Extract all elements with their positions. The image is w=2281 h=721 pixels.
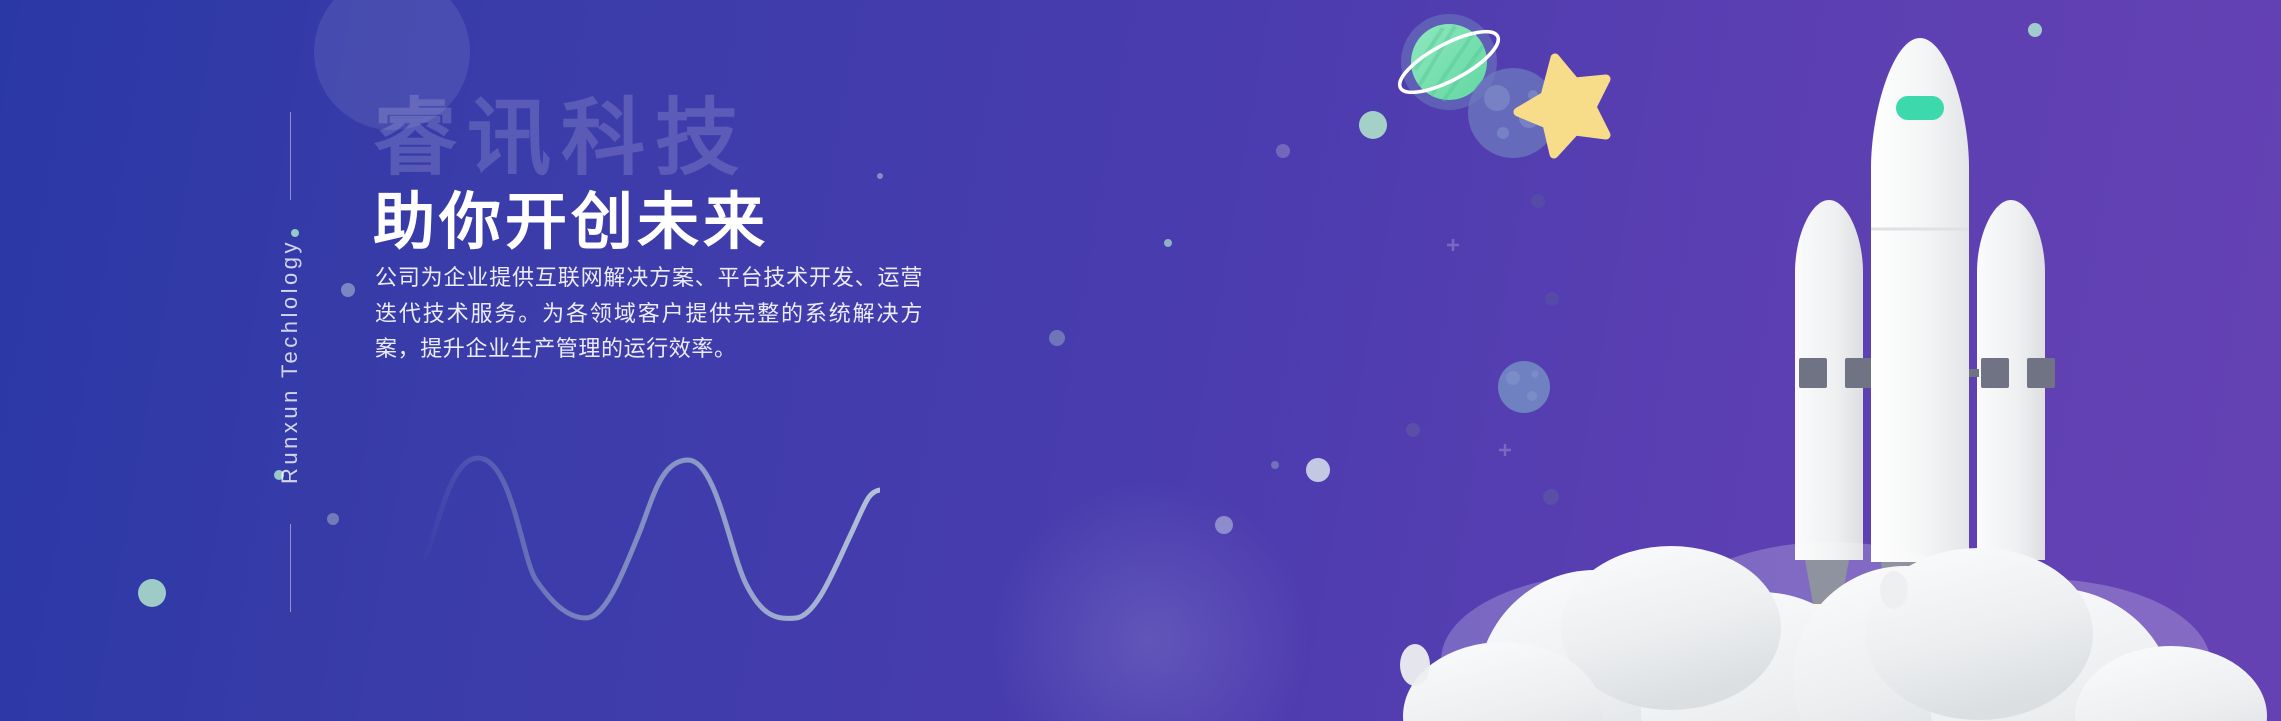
rocket-window <box>1896 96 1944 120</box>
sine-wave-svg <box>420 420 880 660</box>
rocket-scene-svg <box>1381 0 2281 721</box>
brand-vertical-text: Runxun Techlology <box>277 200 303 524</box>
sine-wave-decoration <box>420 420 880 660</box>
rocket-illustration <box>1381 0 2281 721</box>
ghost-brand-title: 睿讯科技 <box>373 96 749 180</box>
brand-vertical-rail: Runxun Techlology <box>270 112 310 612</box>
page-title: 助你开创未来 <box>373 190 769 257</box>
hero-banner: Runxun Techlology 睿讯科技 助你开创未来 公司为企业提供互联网… <box>0 0 2281 721</box>
hero-description: 公司为企业提供互联网解决方案、平台技术开发、运营迭代技术服务。为各领域客户提供完… <box>375 260 923 367</box>
rail-line-bottom <box>290 524 291 612</box>
cloud-cluster <box>1403 542 2267 721</box>
rail-line-top <box>290 112 291 200</box>
